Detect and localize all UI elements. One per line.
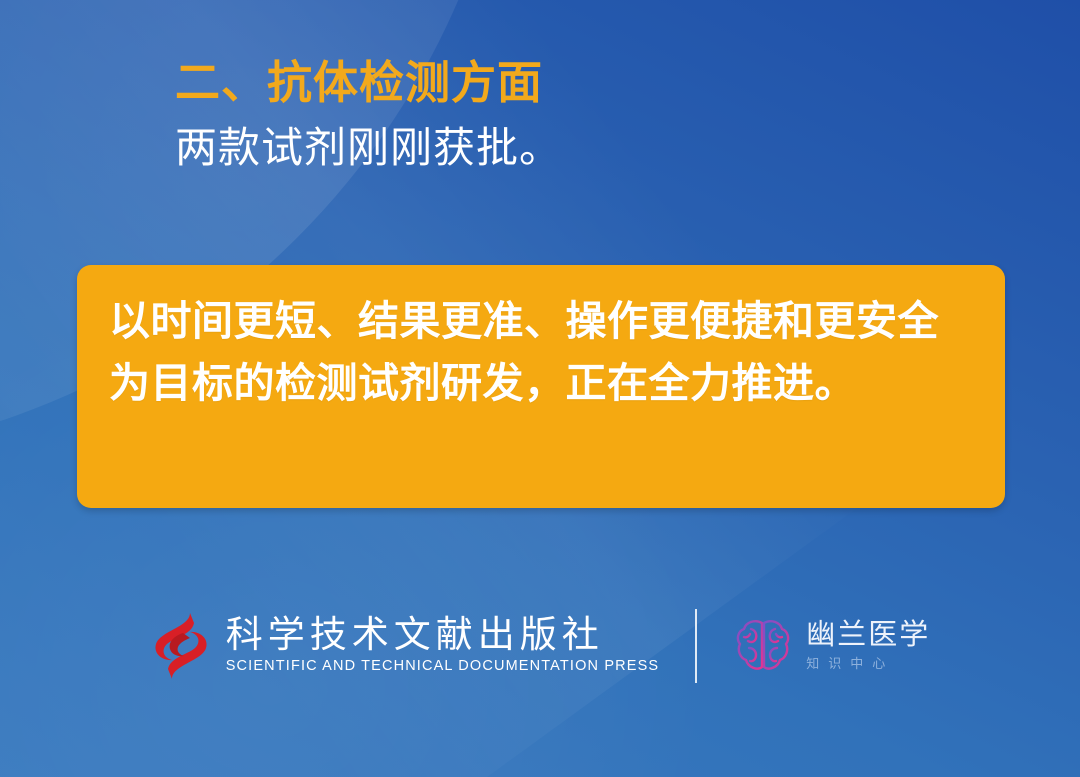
partner-logo: 幽兰医学 知识中心: [733, 615, 930, 677]
brain-icon: [733, 615, 793, 677]
press-name-cn: 科学技术文献出版社: [226, 616, 660, 655]
heading-block: 二、抗体检测方面 两款试剂刚刚获批。: [175, 58, 1035, 171]
section-subheading: 两款试剂刚刚获批。: [175, 124, 1035, 171]
press-logo: 科学技术文献出版社 SCIENTIFIC AND TECHNICAL DOCUM…: [150, 611, 660, 681]
partner-name-cn: 幽兰医学: [806, 620, 930, 652]
partner-logo-text: 幽兰医学 知识中心: [806, 620, 930, 671]
footer-divider: [695, 609, 697, 683]
section-heading: 二、抗体检测方面: [175, 58, 1035, 108]
press-logo-text: 科学技术文献出版社 SCIENTIFIC AND TECHNICAL DOCUM…: [226, 616, 660, 675]
slide-canvas: 二、抗体检测方面 两款试剂刚刚获批。 以时间更短、结果更准、操作更便捷和更安全为…: [0, 0, 1080, 777]
press-name-en: SCIENTIFIC AND TECHNICAL DOCUMENTATION P…: [226, 659, 660, 675]
callout-text: 以时间更短、结果更准、操作更便捷和更安全为目标的检测试剂研发，正在全力推进。: [109, 291, 975, 414]
callout-box: 以时间更短、结果更准、操作更便捷和更安全为目标的检测试剂研发，正在全力推进。: [77, 265, 1005, 508]
flame-s-mark-icon: [150, 611, 212, 681]
partner-tagline-cn: 知识中心: [806, 657, 930, 671]
footer-logo-bar: 科学技术文献出版社 SCIENTIFIC AND TECHNICAL DOCUM…: [0, 598, 1080, 693]
